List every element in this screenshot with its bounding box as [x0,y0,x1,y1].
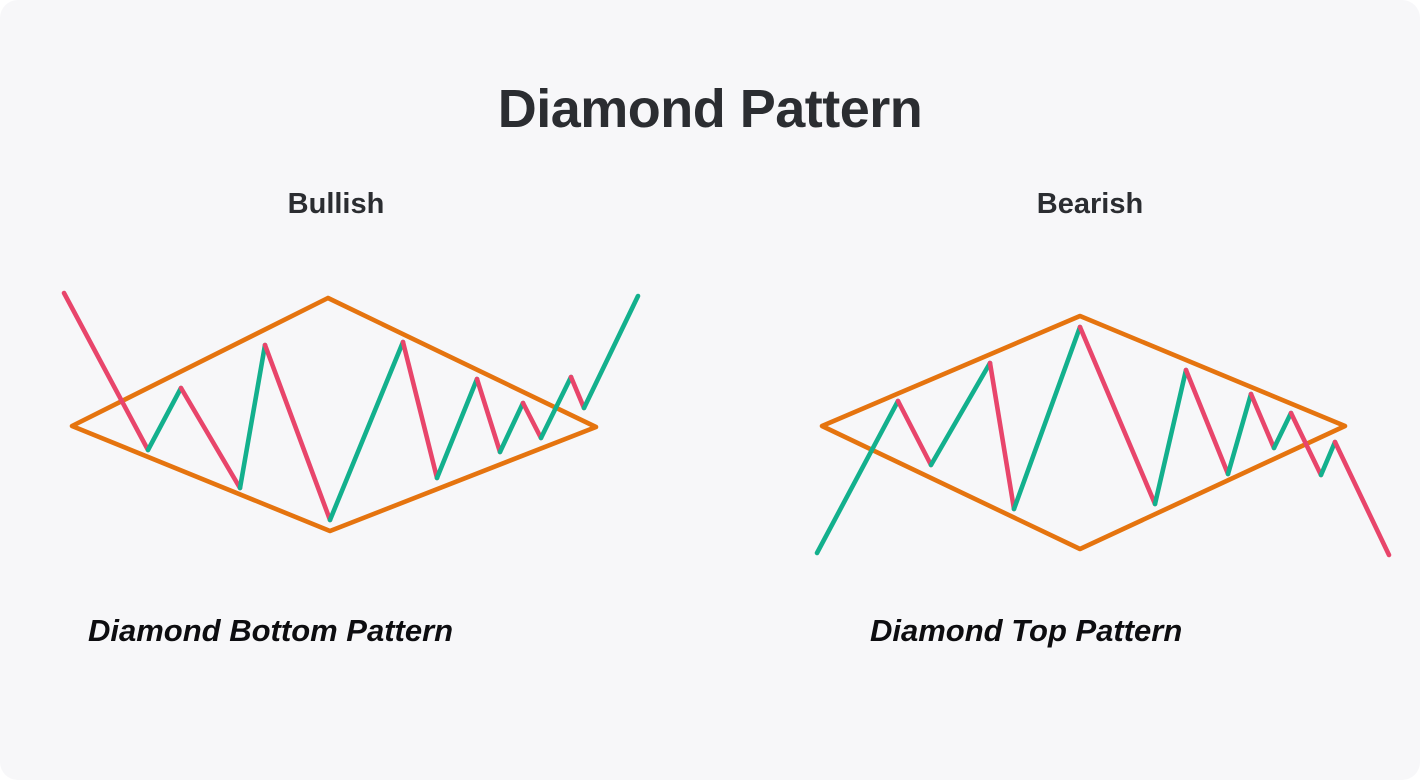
panel-caption-bullish: Diamond Bottom Pattern [88,615,453,646]
page-title: Diamond Pattern [0,82,1420,136]
panel-heading-bearish: Bearish [770,190,1410,219]
panel-bearish: Bearish Diamond Top Pattern [760,190,1400,690]
diagram-canvas: Diamond Pattern Bullish Diamond Bottom P… [0,0,1420,780]
panel-caption-bearish: Diamond Top Pattern [870,615,1182,646]
panel-bullish: Bullish Diamond Bottom Pattern [20,190,680,690]
panel-heading-bullish: Bullish [6,190,666,219]
